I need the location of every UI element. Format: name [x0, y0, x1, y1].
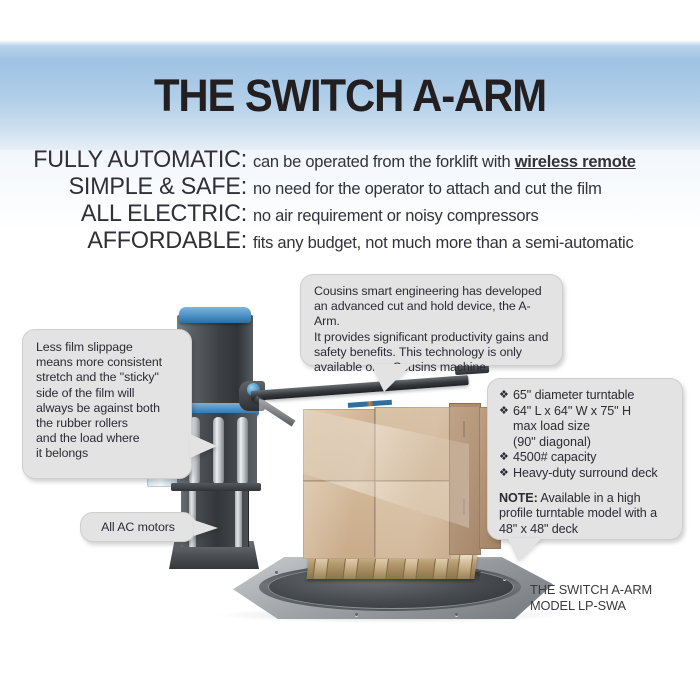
- a-arm: [251, 375, 469, 401]
- diamond-bullet-icon: ❖: [499, 466, 513, 482]
- callout-ac-motors: All AC motors: [80, 512, 196, 542]
- feature-row: SIMPLE & SAFE: no need for the operator …: [0, 173, 700, 200]
- spec-item: ❖ 64" L x 64" W x 75" H: [499, 404, 672, 420]
- deck-screw-icon: [275, 571, 278, 574]
- feature-row: AFFORDABLE: fits any budget, not much mo…: [0, 227, 700, 254]
- feature-row: FULLY AUTOMATIC: can be operated from th…: [0, 146, 700, 173]
- spec-item-continuation: max load size: [499, 419, 672, 435]
- feature-description: can be operated from the forklift with w…: [253, 149, 636, 176]
- carriage-shelf: [171, 483, 261, 491]
- carton-side: [449, 403, 481, 555]
- spec-item-text: 4500# capacity: [513, 450, 596, 466]
- rubber-roller: [237, 417, 248, 485]
- poster-page: THE SWITCH A-ARM FULLY AUTOMATIC: can be…: [0, 0, 700, 700]
- model-caption-line-2: MODEL LP-SWA: [530, 598, 695, 614]
- carton: [303, 409, 377, 483]
- spec-note-label: NOTE:: [499, 491, 538, 505]
- page-title: THE SWITCH A-ARM: [25, 70, 676, 122]
- carton: [375, 407, 451, 483]
- spec-item: ❖ 65" diameter turntable: [499, 388, 672, 404]
- deck-screw-icon: [355, 613, 358, 616]
- carton-seam: [374, 407, 375, 557]
- feature-description: no air requirement or noisy compressors: [253, 203, 539, 230]
- feature-description: no need for the operator to attach and c…: [253, 176, 602, 203]
- callout-engineering: Cousins smart engineering has developed …: [300, 274, 563, 366]
- spec-item: ❖ 4500# capacity: [499, 450, 672, 466]
- callout-tail: [508, 538, 542, 561]
- feature-label: ALL ELECTRIC:: [7, 200, 247, 227]
- feature-description-emphasis: wireless remote: [515, 153, 636, 171]
- spec-item-text: Heavy-duty surround deck: [513, 466, 658, 482]
- feature-label: FULLY AUTOMATIC:: [7, 146, 247, 173]
- callout-film-slippage: Less film slippage means more consistent…: [22, 329, 192, 479]
- carton-handle: [463, 421, 465, 437]
- spec-item-continuation: (90" diagonal): [499, 435, 672, 451]
- callout-film-slippage-text: Less film slippage means more consistent…: [36, 340, 179, 462]
- callout-engineering-text: Cousins smart engineering has developed …: [314, 284, 550, 375]
- feature-description: fits any budget, not much more than a se…: [253, 230, 633, 257]
- feature-description-text: can be operated from the forklift with: [253, 153, 515, 171]
- feature-list: FULLY AUTOMATIC: can be operated from th…: [0, 146, 700, 254]
- carton-seam: [303, 480, 449, 481]
- diamond-bullet-icon: ❖: [499, 388, 513, 404]
- spec-note: NOTE: Available in a high profile turnta…: [499, 491, 672, 538]
- carton-load: [303, 407, 503, 557]
- deck-screw-icon: [503, 577, 506, 580]
- callout-ac-motors-text: All AC motors: [81, 520, 195, 535]
- feature-label: AFFORDABLE:: [7, 227, 247, 254]
- model-caption: THE SWITCH A-ARM MODEL LP-SWA: [530, 582, 695, 614]
- feature-row: ALL ELECTRIC: no air requirement or nois…: [0, 200, 700, 227]
- deck-screw-icon: [455, 613, 458, 616]
- model-caption-line-1: THE SWITCH A-ARM: [530, 582, 695, 598]
- carton: [303, 481, 377, 559]
- a-arm-brace: [253, 396, 295, 427]
- spec-item: ❖ Heavy-duty surround deck: [499, 466, 672, 482]
- diamond-bullet-icon: ❖: [499, 404, 513, 420]
- feature-label: SIMPLE & SAFE:: [7, 173, 247, 200]
- mast-top-cap: [179, 307, 251, 323]
- callout-tail: [194, 520, 218, 536]
- spec-item-text: 65" diameter turntable: [513, 388, 634, 404]
- carton-handle: [463, 499, 465, 515]
- callout-tail: [190, 434, 217, 458]
- spec-item-text: 64" L x 64" W x 75" H: [513, 404, 631, 420]
- callout-tail: [371, 364, 412, 392]
- diamond-bullet-icon: ❖: [499, 450, 513, 466]
- callout-specifications: ❖ 65" diameter turntable ❖ 64" L x 64" W…: [487, 378, 683, 540]
- carton: [375, 481, 451, 559]
